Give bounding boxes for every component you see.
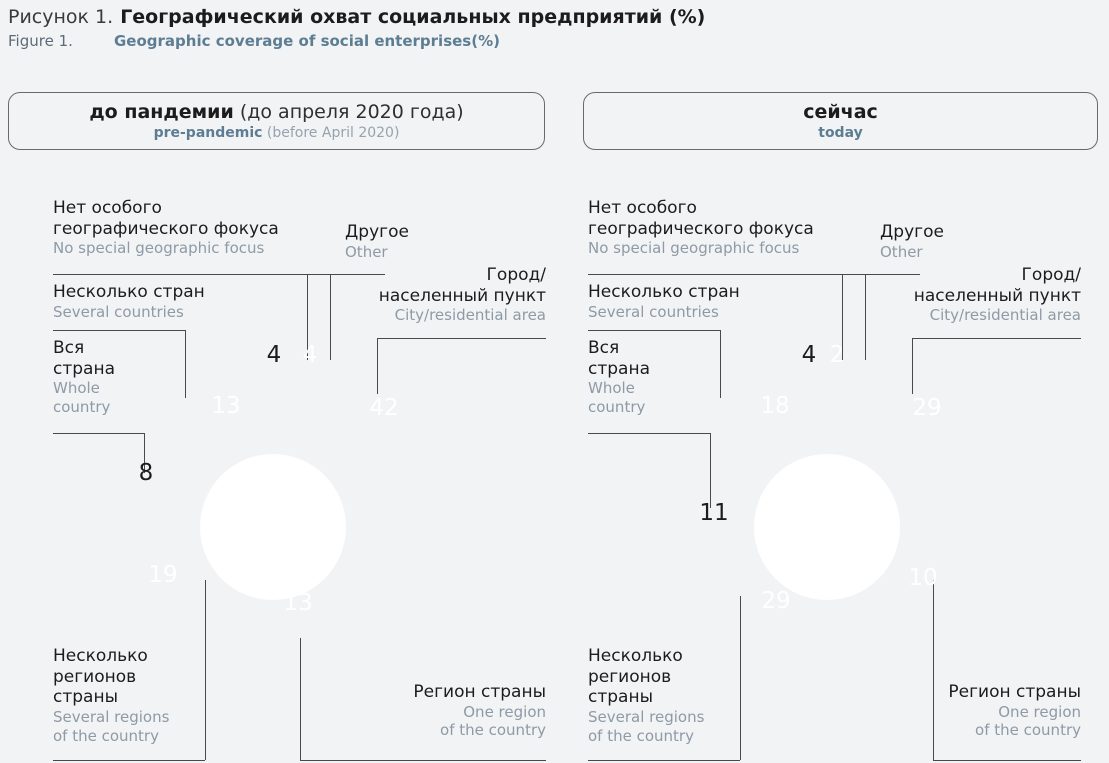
callout-other-left: Другое Other [345, 222, 409, 261]
figure-header: Рисунок 1. Географический охват социальн… [8, 6, 1098, 50]
callout-several-countries-ru-right: Несколько стран [588, 282, 740, 303]
callout-city-ru-1: Город/ [300, 265, 546, 286]
flower-chart-today: 29 10 29 11 18 4 2 [596, 320, 1058, 735]
panel-title-en-bold-today: today [818, 125, 862, 141]
callout-no-special-focus-ru-2-right: географического фокуса [588, 219, 814, 240]
value-several-regions-right: 29 [761, 588, 790, 614]
callout-no-special-focus-ru-2: географического фокуса [53, 219, 279, 240]
callout-other-ru: Другое [345, 222, 409, 243]
value-several-regions-left: 19 [148, 562, 177, 588]
leader-line-one-region-h-left [300, 760, 546, 761]
callout-other-ru-right: Другое [880, 222, 944, 243]
figure-header-ru-row: Рисунок 1. Географический охват социальн… [8, 6, 1098, 28]
callout-city-left: Город/ населенный пункт City/residential… [300, 265, 546, 325]
callout-city-ru-1-right: Город/ [835, 265, 1081, 286]
leader-line-several-regions-h-right [588, 760, 740, 761]
leader-line-one-region-h-right [933, 760, 1081, 761]
callout-several-countries-left: Несколько стран Several countries [53, 282, 205, 321]
figure-number-en: Figure 1. [8, 32, 114, 50]
callout-city-right: Город/ населенный пункт City/residential… [835, 265, 1081, 325]
flower-chart-svg-pre-pandemic: 42 13 19 8 13 4 4 [42, 320, 504, 735]
figure-title-en: Geographic coverage of social enterprise… [114, 32, 500, 50]
donut-hole-left [200, 454, 346, 600]
callout-no-special-focus-ru-1-right: Нет особого [588, 198, 814, 219]
flower-chart-svg-today: 29 10 29 11 18 4 2 [596, 320, 1058, 735]
panel-title-ru-today: сейчас [803, 101, 878, 123]
figure-number-ru: Рисунок 1. [8, 6, 113, 28]
leader-line-several-regions-h-left [53, 760, 205, 761]
chart-panel-pre-pandemic: Нет особого географического фокуса No sp… [0, 160, 555, 763]
value-no-focus-right: 4 [802, 342, 817, 368]
leader-line-no-special-focus-h-right [588, 274, 842, 275]
callout-other-en-right: Other [880, 243, 944, 261]
leader-line-no-special-focus-h-left [53, 274, 307, 275]
panel-title-box-pre-pandemic: до пандемии (до апреля 2020 года) pre-pa… [8, 92, 545, 150]
value-city-left: 42 [369, 395, 398, 421]
figure-title-ru: Географический охват социальных предприя… [120, 6, 705, 28]
callout-other-en: Other [345, 243, 409, 261]
donut-hole-right [754, 454, 900, 600]
callout-no-special-focus-left: Нет особого географического фокуса No sp… [53, 198, 279, 258]
panel-title-en-bold-pre-pandemic: pre-pandemic [154, 125, 263, 141]
panel-title-ru-pre-pandemic: до пандемии (до апреля 2020 года) [89, 101, 463, 123]
panel-title-box-today: сейчас today [583, 92, 1098, 150]
callout-no-special-focus-ru-1: Нет особого [53, 198, 279, 219]
value-one-region-left: 13 [283, 590, 312, 616]
callout-other-right: Другое Other [880, 222, 944, 261]
panel-title-ru-bold-today: сейчас [803, 101, 878, 123]
callout-several-countries-ru: Несколько стран [53, 282, 205, 303]
value-whole-country-right: 11 [699, 500, 728, 526]
value-no-focus-left: 4 [267, 342, 282, 368]
callout-city-ru-2-right: населенный пункт [835, 286, 1081, 307]
value-whole-country-left: 8 [139, 460, 154, 486]
figure-header-en-row: Figure 1. Geographic coverage of social … [8, 32, 1098, 50]
flower-chart-pre-pandemic: 42 13 19 8 13 4 4 [42, 320, 504, 735]
value-city-right: 29 [912, 395, 941, 421]
panel-title-ru-bold-pre-pandemic: до пандемии [89, 101, 233, 123]
callout-several-countries-en: Several countries [53, 303, 205, 321]
chart-panel-today: Нет особого географического фокуса No sp… [554, 160, 1109, 763]
panel-title-en-rest-pre-pandemic: (before April 2020) [267, 125, 400, 141]
callout-no-special-focus-en-right: No special geographic focus [588, 239, 814, 257]
callout-no-special-focus-en: No special geographic focus [53, 239, 279, 257]
value-several-countries-right: 18 [760, 393, 789, 419]
value-one-region-right: 10 [908, 565, 937, 591]
callout-several-countries-right: Несколько стран Several countries [588, 282, 740, 321]
value-several-countries-left: 13 [211, 393, 240, 419]
callout-several-countries-en-right: Several countries [588, 303, 740, 321]
callout-city-ru-2: населенный пункт [300, 286, 546, 307]
value-other-right: 2 [830, 342, 845, 368]
callout-no-special-focus-right: Нет особого географического фокуса No sp… [588, 198, 814, 258]
panel-title-en-today: today [818, 125, 862, 141]
panel-title-en-pre-pandemic: pre-pandemic (before April 2020) [154, 125, 400, 141]
panel-title-ru-rest-pre-pandemic: (до апреля 2020 года) [240, 101, 464, 123]
value-other-left: 4 [303, 342, 318, 368]
